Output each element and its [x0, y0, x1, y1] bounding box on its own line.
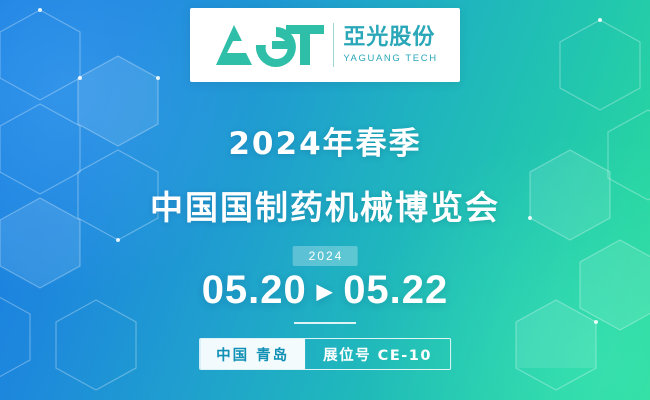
company-name-cn: 亞光股份	[343, 27, 437, 49]
company-logo: 亞光股份 YAGUANG TECH	[190, 8, 460, 82]
venue-info-bar: 中国 青岛 展位号 CE-10	[199, 338, 451, 370]
event-dates: 05.20 ▶ 05.22	[0, 268, 650, 313]
date-underline	[294, 322, 356, 324]
logo-divider	[333, 23, 334, 67]
agt-logotype-icon	[212, 19, 324, 71]
date-start: 05.20	[202, 268, 307, 313]
agt-mark-icon	[212, 19, 324, 71]
location-label: 中国 青岛	[200, 339, 305, 369]
event-banner: 亞光股份 YAGUANG TECH 2024年春季 中国国制药机械博览会 202…	[0, 0, 650, 400]
arrow-right-icon: ▶	[317, 282, 333, 302]
company-name-en: YAGUANG TECH	[343, 54, 437, 64]
event-title-line1: 2024年春季	[0, 118, 650, 163]
date-end: 05.22	[343, 268, 448, 313]
logo-text-block: 亞光股份 YAGUANG TECH	[343, 27, 437, 64]
logo-inner: 亞光股份 YAGUANG TECH	[212, 19, 437, 71]
title-block: 2024年春季 中国国制药机械博览会	[0, 118, 650, 229]
booth-label: 展位号 CE-10	[305, 339, 450, 369]
event-title-line2: 中国国制药机械博览会	[0, 181, 650, 229]
year-badge: 2024	[293, 246, 358, 266]
